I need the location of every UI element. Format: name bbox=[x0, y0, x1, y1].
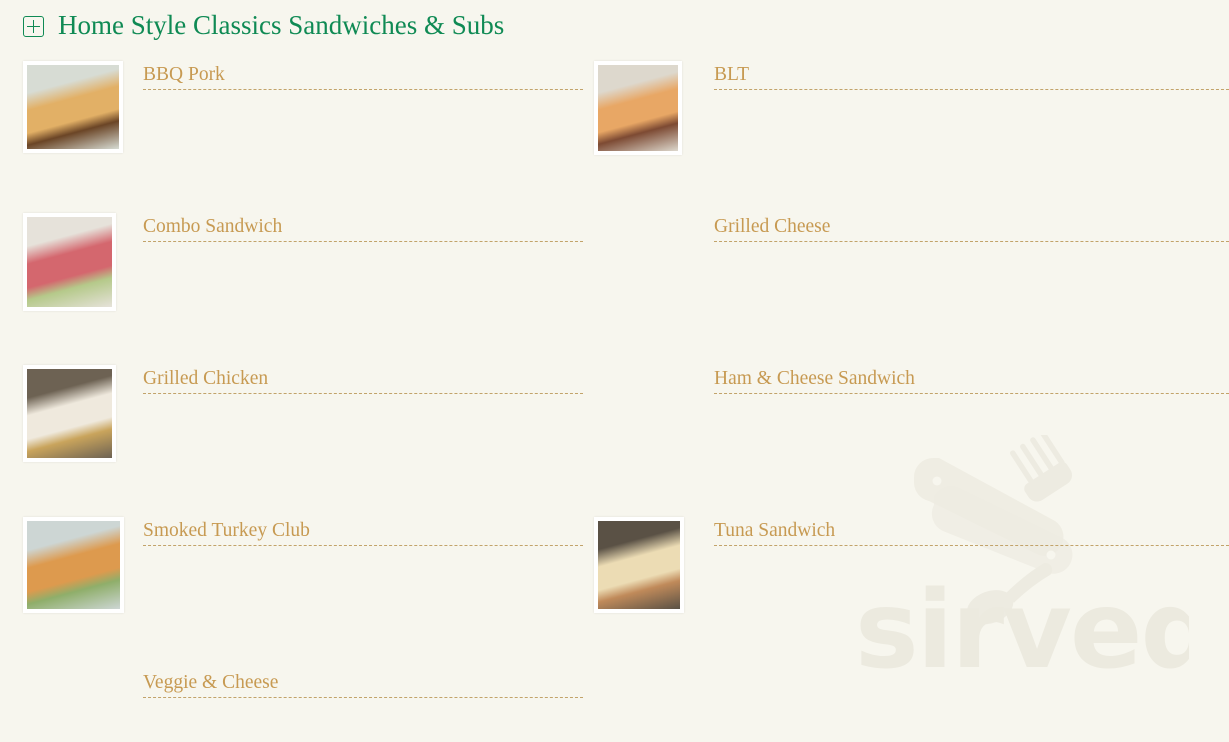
menu-item-right: Grilled Cheese bbox=[583, 210, 1229, 362]
menu-row: Grilled ChickenHam & Cheese Sandwich bbox=[0, 362, 1229, 514]
combo-sandwich-photo bbox=[27, 217, 112, 307]
menu-item-link[interactable]: BBQ Pork bbox=[143, 64, 225, 86]
item-thumbnail-slot bbox=[23, 514, 143, 613]
menu-item-link[interactable]: Smoked Turkey Club bbox=[143, 520, 310, 542]
item-thumbnail[interactable] bbox=[23, 213, 116, 311]
menu-item-link[interactable]: Veggie & Cheese bbox=[143, 672, 278, 694]
menu-row: Smoked Turkey ClubTuna Sandwich bbox=[0, 514, 1229, 666]
item-thumbnail-slot bbox=[23, 210, 143, 311]
menu-item-right: BLT bbox=[583, 58, 1229, 210]
item-thumbnail[interactable] bbox=[594, 61, 682, 155]
menu-item-link[interactable]: BLT bbox=[714, 64, 749, 86]
blt-sandwich-photo bbox=[598, 65, 678, 151]
menu-item-body: Combo Sandwich bbox=[143, 210, 583, 242]
smoked-turkey-club-photo bbox=[27, 521, 120, 609]
item-thumbnail-slot bbox=[23, 58, 143, 153]
item-thumbnail[interactable] bbox=[594, 517, 684, 613]
menu-item-left: Smoked Turkey Club bbox=[0, 514, 583, 666]
menu-item-grid: BBQ PorkBLTCombo SandwichGrilled CheeseG… bbox=[0, 58, 1229, 726]
menu-item-name-row: Ham & Cheese Sandwich bbox=[714, 368, 1229, 394]
menu-item-name-row: Veggie & Cheese bbox=[143, 672, 583, 698]
menu-item-name-row: Grilled Chicken bbox=[143, 368, 583, 394]
menu-item-right: Ham & Cheese Sandwich bbox=[583, 362, 1229, 514]
menu-item-link[interactable]: Tuna Sandwich bbox=[714, 520, 835, 542]
menu-item-body: BLT bbox=[714, 58, 1229, 90]
menu-item-left: Grilled Chicken bbox=[0, 362, 583, 514]
menu-item-body: Ham & Cheese Sandwich bbox=[714, 362, 1229, 394]
item-thumbnail-slot bbox=[594, 362, 714, 365]
menu-item-name-row: Grilled Cheese bbox=[714, 216, 1229, 242]
menu-item-left: Combo Sandwich bbox=[0, 210, 583, 362]
item-thumbnail[interactable] bbox=[23, 365, 116, 462]
menu-item-body: Veggie & Cheese bbox=[143, 666, 583, 698]
menu-item-left: BBQ Pork bbox=[0, 58, 583, 210]
menu-row: Veggie & Cheese bbox=[0, 666, 1229, 726]
menu-item-left: Veggie & Cheese bbox=[0, 666, 583, 726]
item-thumbnail-slot bbox=[23, 666, 143, 669]
item-thumbnail-slot bbox=[594, 58, 714, 155]
menu-item-body: Grilled Chicken bbox=[143, 362, 583, 394]
menu-item-body: Grilled Cheese bbox=[714, 210, 1229, 242]
item-thumbnail-slot bbox=[23, 362, 143, 462]
menu-item-name-row: Tuna Sandwich bbox=[714, 520, 1229, 546]
menu-item-name-row: Smoked Turkey Club bbox=[143, 520, 583, 546]
bbq-pork-sandwich-photo bbox=[27, 65, 119, 149]
tuna-sandwich-photo bbox=[598, 521, 680, 609]
page-title: Home Style Classics Sandwiches & Subs bbox=[58, 12, 504, 39]
menu-item-link[interactable]: Grilled Cheese bbox=[714, 216, 830, 238]
menu-item-name-row: Combo Sandwich bbox=[143, 216, 583, 242]
item-thumbnail[interactable] bbox=[23, 61, 123, 153]
menu-item-body: Smoked Turkey Club bbox=[143, 514, 583, 546]
menu-item-name-row: BLT bbox=[714, 64, 1229, 90]
menu-item-name-row: BBQ Pork bbox=[143, 64, 583, 90]
grilled-chicken-sandwich-photo bbox=[27, 369, 112, 458]
menu-item-body: Tuna Sandwich bbox=[714, 514, 1229, 546]
menu-item-link[interactable]: Grilled Chicken bbox=[143, 368, 268, 390]
menu-row: Combo SandwichGrilled Cheese bbox=[0, 210, 1229, 362]
item-thumbnail-slot bbox=[594, 210, 714, 213]
item-thumbnail[interactable] bbox=[23, 517, 124, 613]
menu-item-link[interactable]: Ham & Cheese Sandwich bbox=[714, 368, 915, 390]
item-thumbnail-slot bbox=[594, 514, 714, 613]
menu-item-link[interactable]: Combo Sandwich bbox=[143, 216, 282, 238]
menu-row: BBQ PorkBLT bbox=[0, 58, 1229, 210]
menu-item-right: Tuna Sandwich bbox=[583, 514, 1229, 666]
menu-section-header[interactable]: Home Style Classics Sandwiches & Subs bbox=[23, 12, 504, 39]
plus-box-icon[interactable] bbox=[23, 16, 44, 37]
menu-item-body: BBQ Pork bbox=[143, 58, 583, 90]
